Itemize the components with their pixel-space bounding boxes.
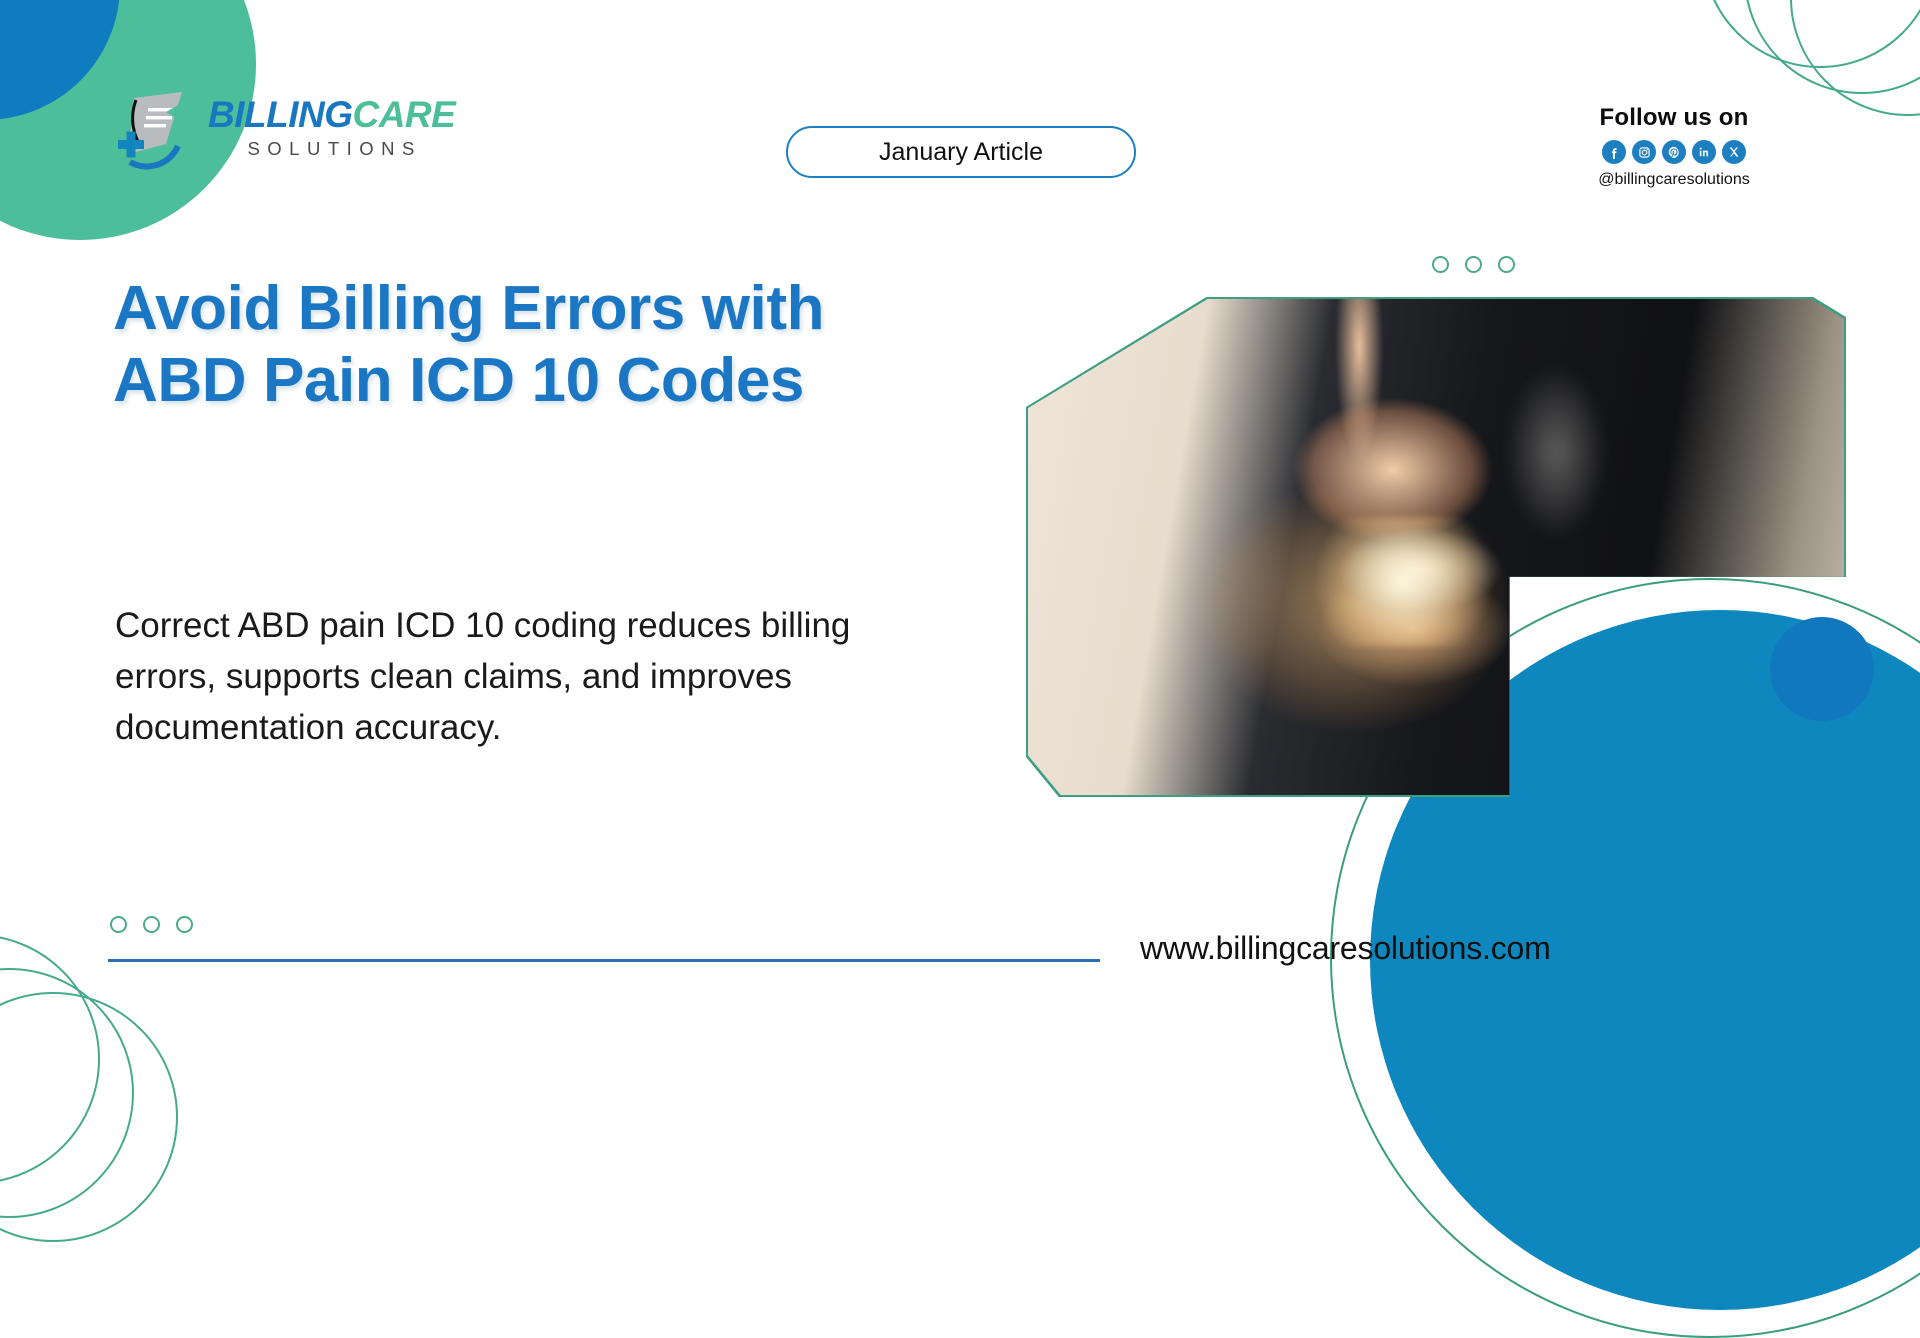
bottom-left-ring-1 — [0, 968, 134, 1218]
intestine-overlay — [1273, 487, 1567, 715]
decorative-circle — [176, 916, 193, 933]
logo-word-primary: BILLING — [208, 94, 352, 135]
hero-photo-abdominal-pain — [1028, 299, 1844, 795]
hero-image-container — [1026, 297, 1846, 797]
social-icon-row — [1524, 140, 1824, 164]
logo-wordmark: BILLINGCARE SOLUTIONS — [208, 96, 455, 160]
follow-us-block: Follow us on @billingcaresolutions — [1524, 104, 1824, 189]
pain-glow — [1297, 517, 1509, 646]
bottom-left-ring-3 — [0, 934, 100, 1184]
top-right-ring-3 — [1702, 0, 1920, 68]
footer-divider — [108, 959, 1100, 962]
brand-logo[interactable]: BILLINGCARE SOLUTIONS — [104, 78, 464, 174]
decorative-circle — [110, 916, 127, 933]
top-right-ring-2 — [1744, 0, 1920, 94]
website-url[interactable]: www.billingcaresolutions.com — [1140, 930, 1551, 967]
billingcare-logo-mark — [104, 82, 196, 170]
footer-dot-group — [110, 916, 193, 933]
facebook-icon[interactable] — [1602, 140, 1626, 164]
hero-accent-circle — [1770, 617, 1874, 721]
x-twitter-icon[interactable] — [1722, 140, 1746, 164]
pinterest-icon[interactable] — [1662, 140, 1686, 164]
decorative-circle — [1498, 256, 1515, 273]
decorative-circle — [143, 916, 160, 933]
article-month-badge-label: January Article — [879, 138, 1043, 167]
follow-us-title: Follow us on — [1524, 104, 1824, 132]
decorative-circle — [1465, 256, 1482, 273]
social-handle: @billingcaresolutions — [1524, 171, 1824, 189]
top-right-ring-1 — [1790, 0, 1920, 116]
instagram-icon[interactable] — [1632, 140, 1656, 164]
hero-dot-group — [1432, 256, 1515, 273]
page-title: Avoid Billing Errors with ABD Pain ICD 1… — [113, 273, 933, 417]
decorative-circle — [1432, 256, 1449, 273]
bottom-left-ring-2 — [0, 992, 178, 1242]
article-month-badge[interactable]: January Article — [786, 126, 1136, 178]
logo-word-secondary: CARE — [352, 94, 455, 135]
figure-arm-highlight — [1452, 349, 1632, 607]
page-subcopy: Correct ABD pain ICD 10 coding reduces b… — [115, 600, 955, 753]
stomach-overlay — [1248, 299, 1525, 587]
linkedin-icon[interactable] — [1692, 140, 1716, 164]
top-left-blue-circle — [0, 0, 120, 120]
logo-subtitle: SOLUTIONS — [208, 138, 455, 160]
